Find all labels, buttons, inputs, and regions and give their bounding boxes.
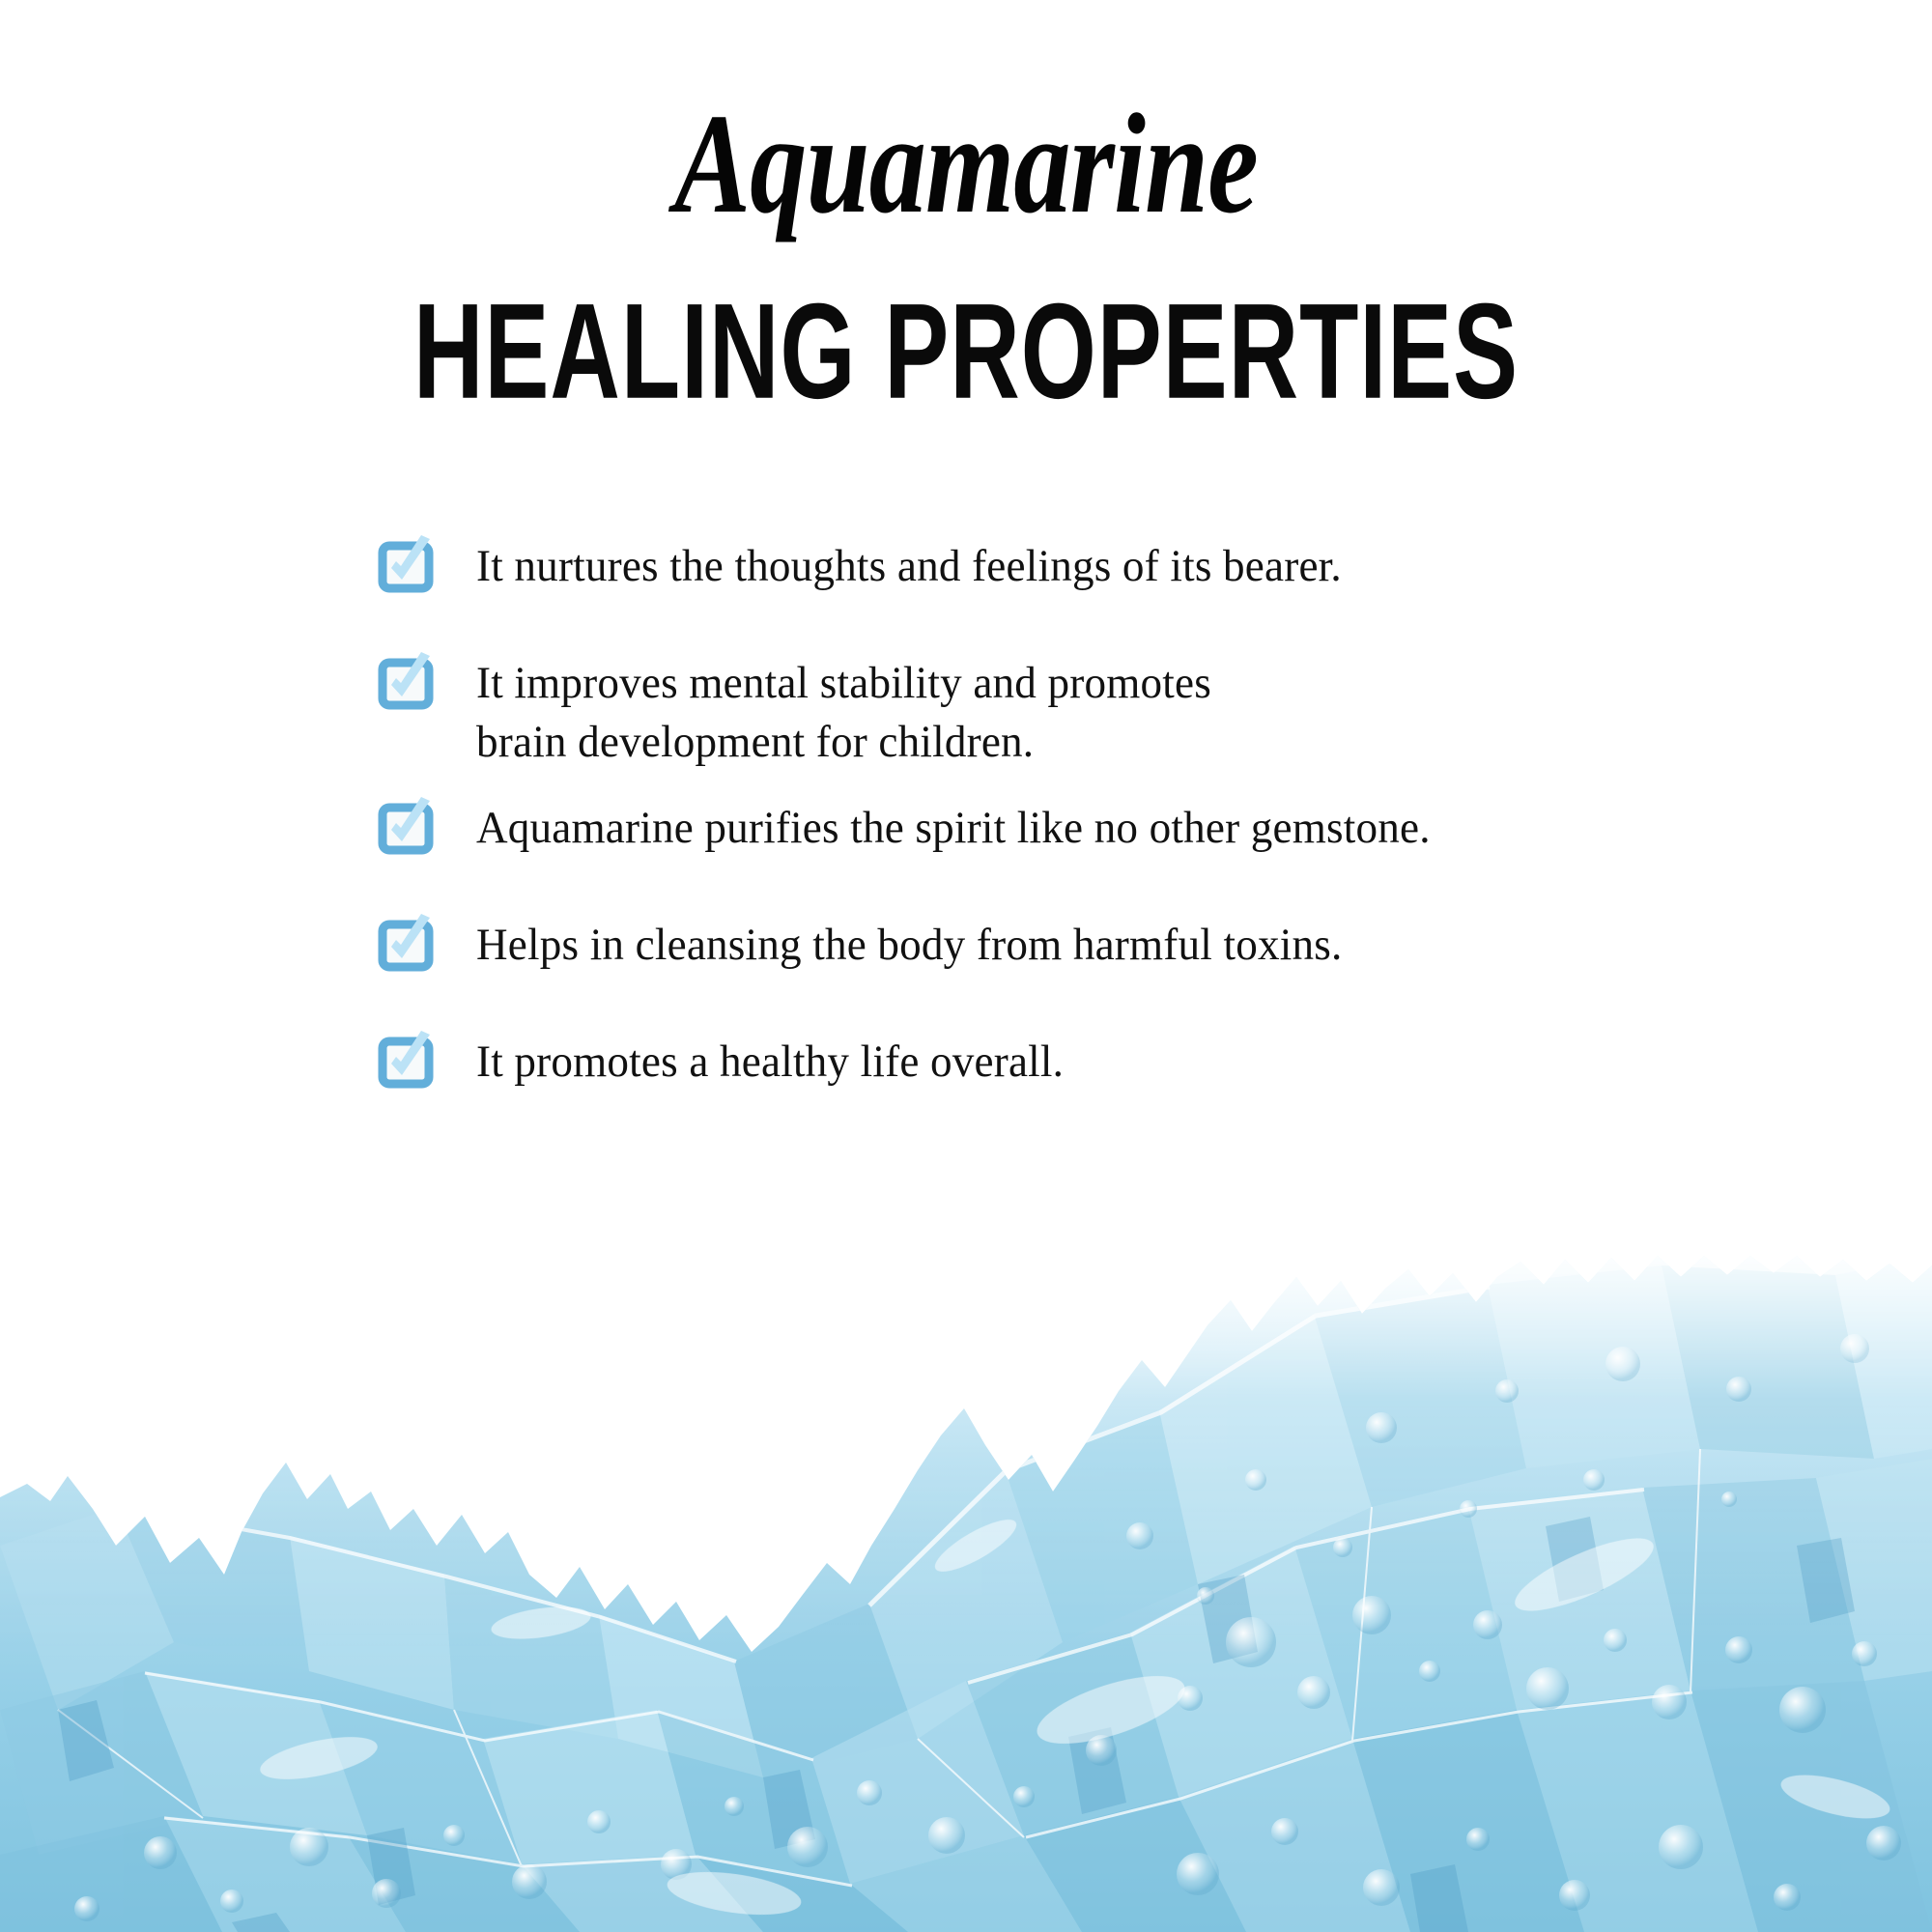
checkbox-checked-icon	[380, 920, 434, 974]
page-subtitle: HEALING PROPERTIES	[68, 236, 1864, 419]
list-item-label: Helps in cleansing the body from harmful…	[476, 916, 1342, 975]
ice-cubes-photo	[0, 1256, 1932, 1932]
list-item: Helps in cleansing the body from harmful…	[380, 916, 1635, 975]
healing-properties-list: It nurtures the thoughts and feelings of…	[380, 537, 1635, 1093]
checkbox-checked-icon	[380, 803, 434, 857]
checkbox-checked-icon	[380, 1037, 434, 1091]
poster-header: Aquamarine HEALING PROPERTIES	[0, 0, 1932, 377]
page-title: Aquamarine	[193, 93, 1739, 236]
list-item: It promotes a healthy life overall.	[380, 1033, 1635, 1092]
list-item: Aquamarine purifies the spirit like no o…	[380, 799, 1635, 858]
list-item-label: It promotes a healthy life overall.	[476, 1033, 1064, 1092]
list-item: It improves mental stability and promote…	[380, 654, 1635, 772]
poster-canvas: Aquamarine HEALING PROPERTIES It nurture…	[0, 0, 1932, 1932]
list-item-label: It improves mental stability and promote…	[476, 654, 1211, 772]
checkbox-checked-icon	[380, 658, 434, 712]
list-item-label: It nurtures the thoughts and feelings of…	[476, 537, 1342, 596]
list-item-label: Aquamarine purifies the spirit like no o…	[476, 799, 1431, 858]
list-item: It nurtures the thoughts and feelings of…	[380, 537, 1635, 596]
checkbox-checked-icon	[380, 541, 434, 595]
